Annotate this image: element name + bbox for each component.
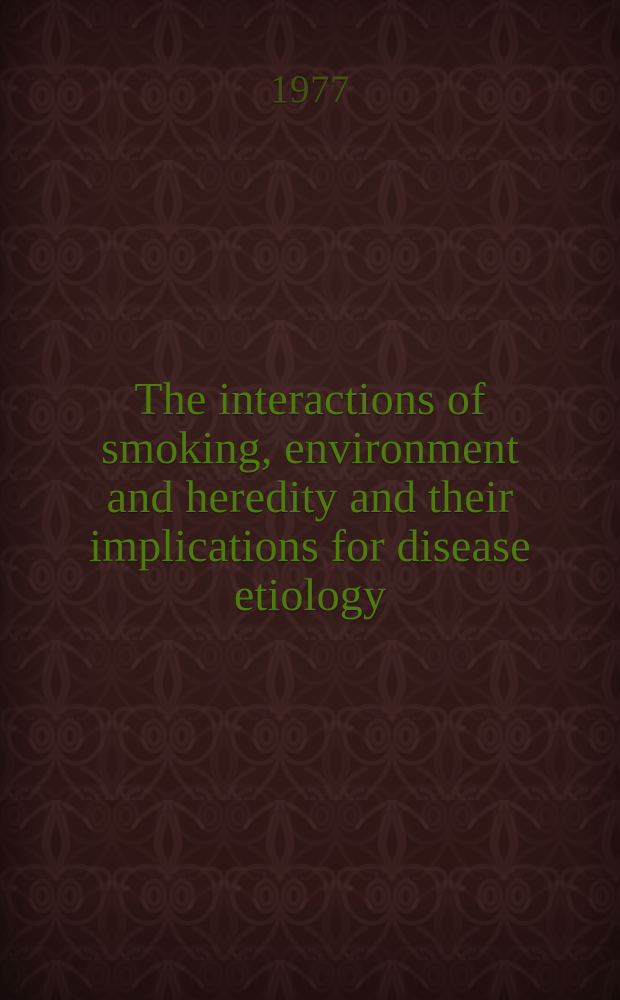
title-line: The interactions of [34, 374, 586, 423]
title-line: and heredity and their [34, 472, 586, 521]
title-line: implications for disease [34, 521, 586, 570]
cover-title: The interactions of smoking, environment… [34, 374, 586, 619]
title-line: etiology [34, 570, 586, 619]
book-cover: 1977 The interactions of smoking, enviro… [0, 0, 620, 1000]
publication-year: 1977 [0, 70, 620, 109]
title-line: smoking, environment [34, 423, 586, 472]
